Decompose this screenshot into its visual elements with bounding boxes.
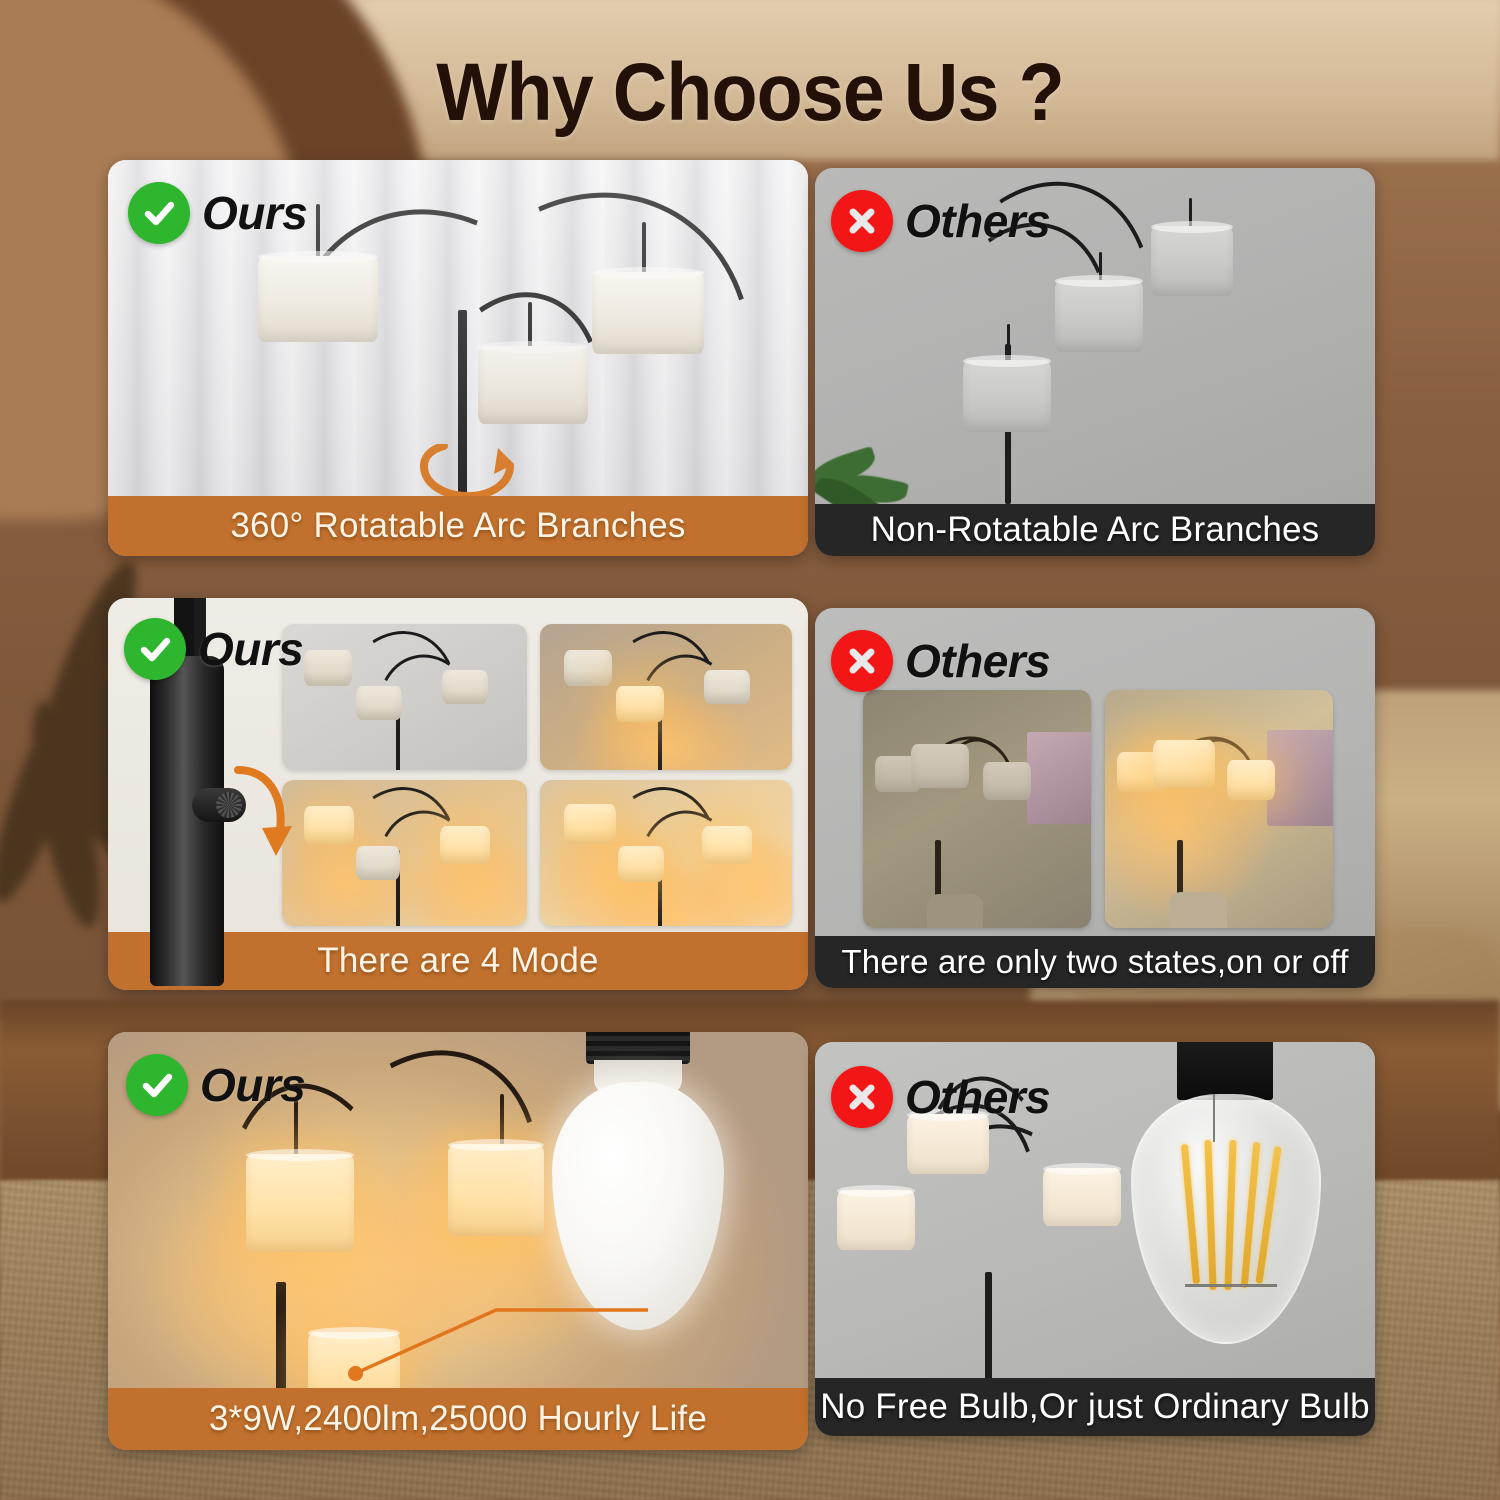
caption-others-ordinary-bulb: No Free Bulb,Or just Ordinary Bulb: [815, 1378, 1375, 1436]
badge-ours-2: Ours: [124, 618, 303, 680]
mode-thumbnail-three-lit: [540, 780, 792, 926]
badge-label-others: Others: [905, 194, 1050, 248]
check-icon: [126, 1054, 188, 1116]
lamp-shade-right: [1043, 1168, 1121, 1226]
lamp-shade-top: [1151, 226, 1233, 296]
badge-label-others: Others: [905, 1070, 1050, 1124]
lamp-shade-right: [592, 272, 704, 354]
cross-icon: [831, 190, 893, 252]
caption-ours-bulb-spec: 3*9W,2400lm,25000 Hourly Life: [108, 1388, 808, 1450]
lamp-pole: [985, 1272, 992, 1380]
lamp-drop-left: [316, 204, 320, 262]
mode-thumbnail-all-off: [282, 624, 527, 770]
cross-icon: [831, 630, 893, 692]
panel-others-nonrotatable: Others Non-Rotatable Arc Branches: [815, 168, 1375, 556]
bulb-wire: [1185, 1284, 1277, 1287]
bulb-screw-base: [1177, 1042, 1273, 1100]
lamp-drop-right: [642, 222, 646, 278]
badge-others-3: Others: [831, 1066, 1050, 1128]
state-thumbnail-off: [863, 690, 1091, 928]
mode-thumbnail-two-lit: [282, 780, 527, 926]
lamp-shade-left: [246, 1154, 354, 1252]
check-icon: [124, 618, 186, 680]
panel-ours-bulb-spec: Ours 3*9W,2400lm,25000 Hourly Life: [108, 1032, 808, 1450]
lamp-drop-center: [528, 302, 532, 352]
bulb-wire: [1213, 1094, 1215, 1142]
knob-rotation-arrow-icon: [226, 756, 306, 866]
caption-ours-rotatable: 360° Rotatable Arc Branches: [108, 496, 808, 556]
state-thumbnail-on: [1105, 690, 1333, 928]
badge-label-ours: Ours: [198, 622, 303, 676]
panel-others-two-states: Others There are only two states,on or o…: [815, 608, 1375, 988]
caption-others-nonrotatable: Non-Rotatable Arc Branches: [815, 504, 1375, 556]
badge-label-ours: Ours: [200, 1058, 305, 1112]
bulb-callout-dot: [348, 1366, 363, 1381]
lamp-shade-left: [258, 256, 378, 342]
caption-others-two-states: There are only two states,on or off: [815, 936, 1375, 988]
edison-bulb-image: [1115, 1042, 1335, 1366]
check-icon: [128, 182, 190, 244]
panel-ours-rotatable: Ours 360° Rotatable Arc Branches: [108, 160, 808, 556]
mode-thumbnail-one-lit: [540, 624, 792, 770]
badge-label-ours: Ours: [202, 186, 307, 240]
lamp-shade-low: [963, 360, 1051, 432]
lamp-shade-mid: [1055, 280, 1143, 352]
panel-ours-four-modes: Ours There are 4 Mode: [108, 598, 808, 990]
lamp-shade-center: [478, 346, 588, 424]
comparison-grid: Ours 360° Rotatable Arc Branches Others …: [0, 0, 1500, 1500]
bulb-callout-line: [346, 1274, 656, 1384]
lamp-shade-left: [837, 1190, 915, 1250]
cross-icon: [831, 1066, 893, 1128]
badge-others-1: Others: [831, 190, 1050, 252]
mode-thumbnail-grid: [282, 624, 792, 924]
badge-ours-1: Ours: [128, 182, 307, 244]
panel-others-ordinary-bulb: Others No Free Bulb,Or just Ordinary Bul…: [815, 1042, 1375, 1436]
lamp-pole: [458, 310, 467, 510]
badge-label-others: Others: [905, 634, 1050, 688]
badge-others-2: Others: [831, 630, 1050, 692]
badge-ours-3: Ours: [126, 1054, 305, 1116]
